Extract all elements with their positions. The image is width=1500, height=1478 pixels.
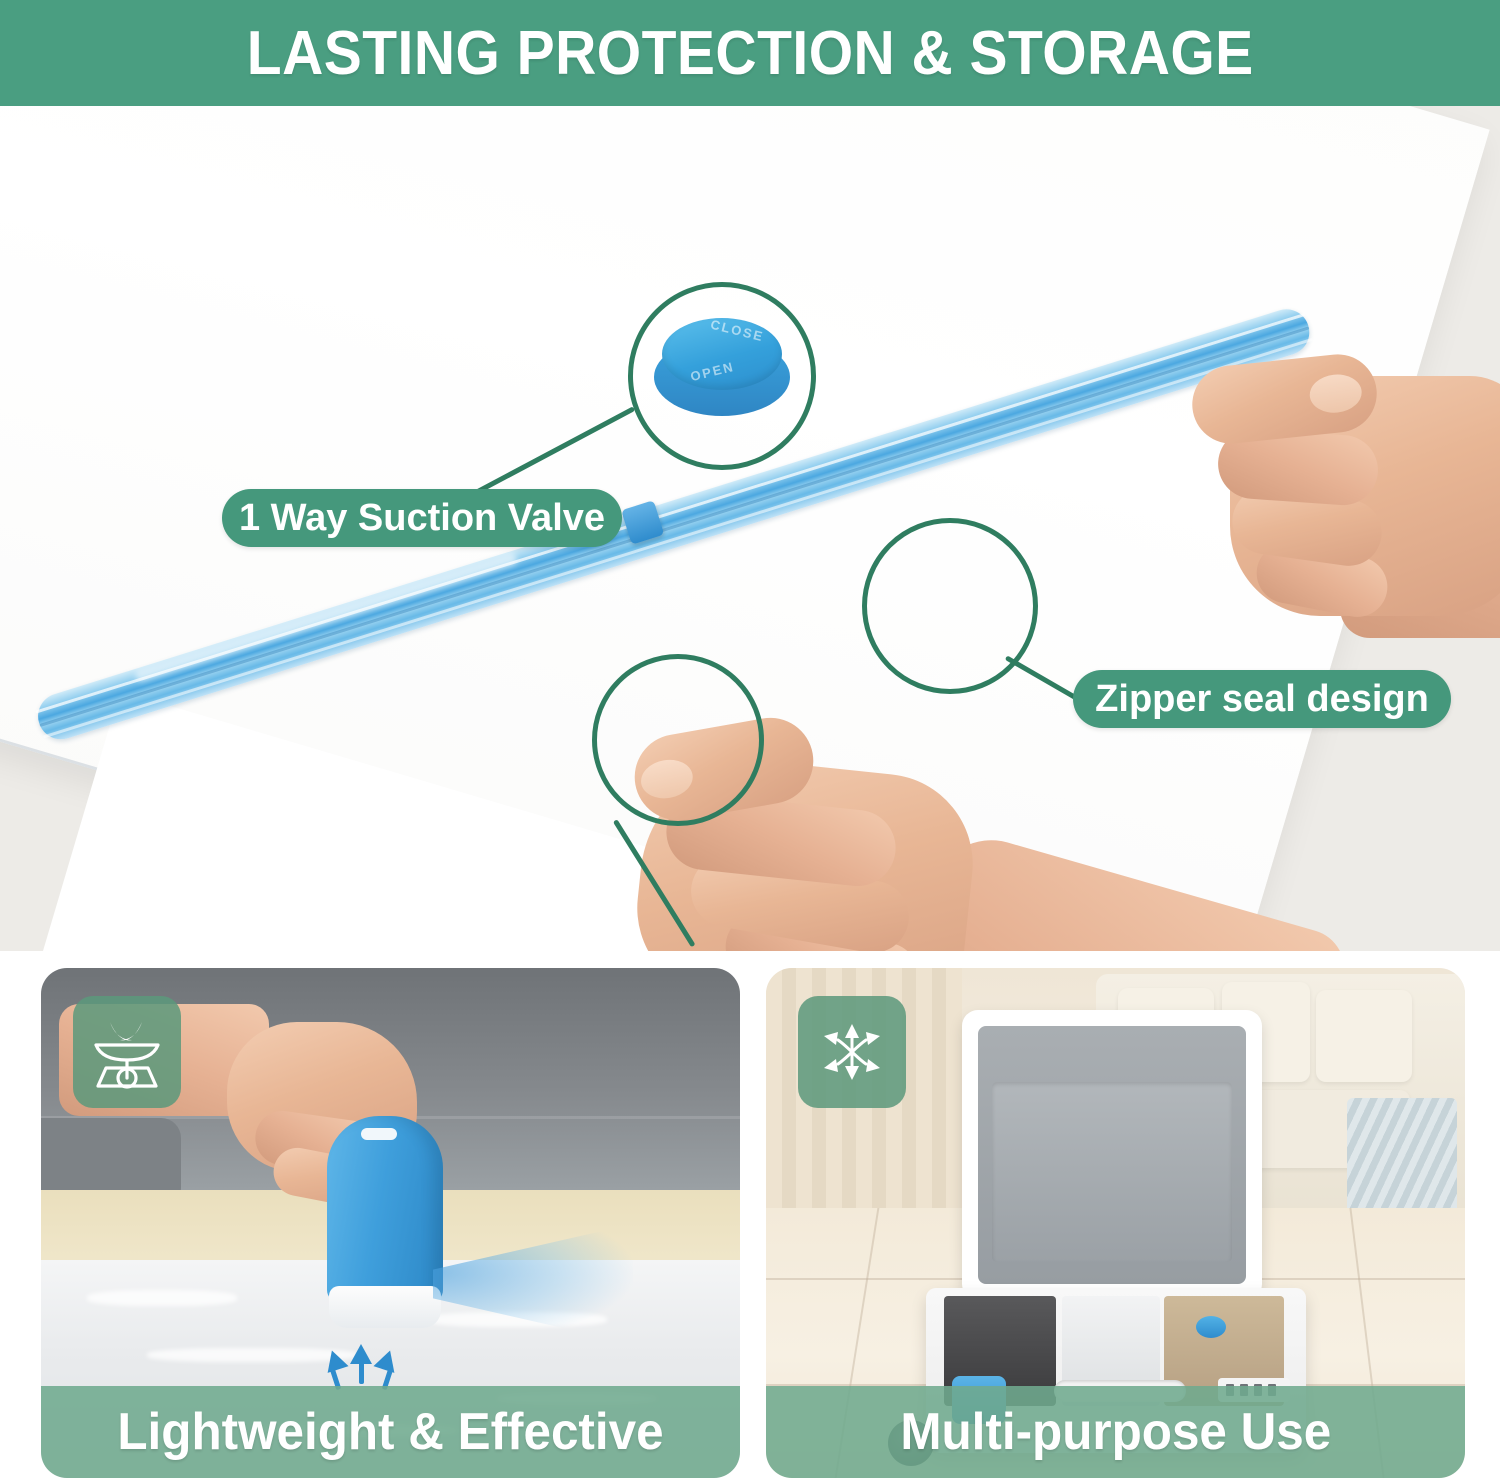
right-thumb-nail	[1308, 372, 1364, 415]
multi-direction-arrows-icon	[798, 996, 906, 1108]
feather-scale-glyph	[88, 1012, 166, 1092]
feather-scale-icon	[73, 996, 181, 1108]
pump-body	[327, 1116, 443, 1302]
tile-caption-lightweight: Lightweight & Effective	[41, 1386, 740, 1478]
header-banner: LASTING PROTECTION & STORAGE	[0, 0, 1500, 106]
tile-caption-text: Lightweight & Effective	[117, 1402, 663, 1462]
right-hand	[1170, 336, 1500, 636]
suitcase-lid	[962, 1010, 1262, 1300]
packed-bag-valve	[1196, 1316, 1226, 1338]
callout-circle-zipper	[862, 518, 1038, 694]
product-feature-image: LASTING PROTECTION & STORAGE	[0, 0, 1500, 1478]
hero-photo-panel: CLOSE OPEN 1 Way Suction Valve Zipper se…	[0, 106, 1500, 951]
liner-zip-pocket	[992, 1082, 1232, 1262]
callout-label-zipper: Zipper seal design	[1073, 670, 1451, 728]
tile-caption-text: Multi-purpose Use	[900, 1402, 1331, 1462]
callout-circle-valve	[628, 282, 816, 470]
feature-tile-lightweight: Lightweight & Effective	[41, 968, 740, 1478]
feature-tile-multipurpose: Multi-purpose Use	[766, 968, 1465, 1478]
airflow-arrow	[350, 1344, 372, 1364]
pump-power-button[interactable]	[361, 1128, 397, 1140]
callout-circle-full-zipper	[592, 654, 764, 826]
page-title: LASTING PROTECTION & STORAGE	[247, 18, 1254, 89]
bag-wrinkle	[87, 1290, 237, 1306]
airflow-arrow	[359, 1362, 364, 1384]
tile-caption-multipurpose: Multi-purpose Use	[766, 1386, 1465, 1478]
callout-label-valve: 1 Way Suction Valve	[222, 489, 622, 547]
electric-air-pump	[327, 1116, 443, 1336]
multi-direction-arrows-glyph	[814, 1014, 890, 1090]
suitcase-liner	[978, 1026, 1246, 1284]
couch-cushion	[1316, 990, 1412, 1082]
pump-nozzle-foot	[329, 1286, 441, 1328]
